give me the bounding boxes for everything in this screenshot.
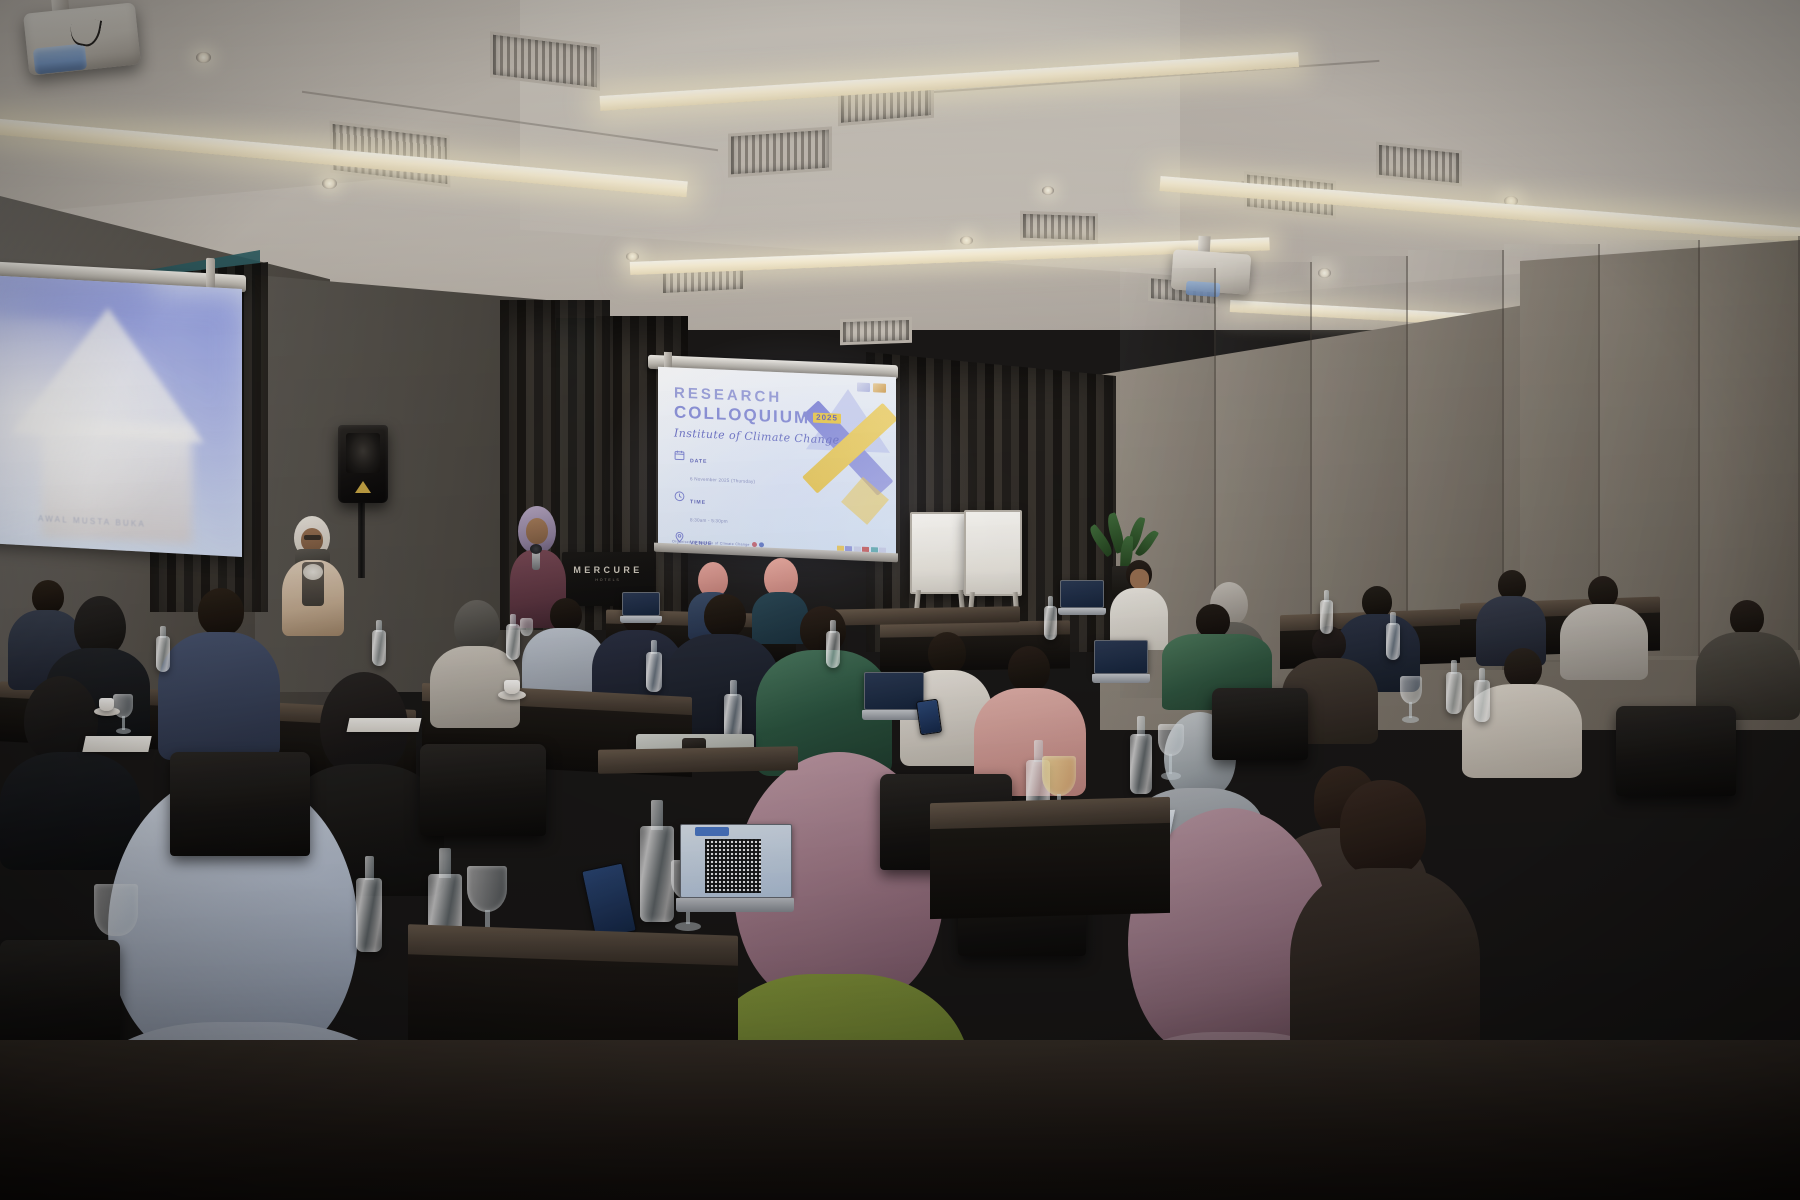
water-bottle: [1474, 668, 1490, 722]
slide-info-value: 8:30am - 5:30pm: [690, 517, 728, 524]
cup: [99, 698, 114, 711]
water-bottle: [156, 626, 170, 672]
glass-foot: [675, 922, 701, 931]
pearl-necklace: [303, 564, 323, 580]
microphone-head-icon: [530, 544, 542, 554]
paper-document: [82, 736, 151, 752]
face: [526, 518, 548, 544]
chair: [170, 752, 310, 856]
slide-info-label: TIME: [690, 499, 706, 506]
water-bottle: [1044, 596, 1057, 640]
bottle-neck: [1137, 716, 1145, 736]
venue-brand-name: MERCURE: [562, 565, 654, 575]
water-bottle: [356, 856, 382, 952]
pa-speaker: [338, 425, 388, 503]
water-bottle: [506, 614, 520, 660]
headscarf: [764, 558, 798, 596]
laptop: [1092, 640, 1150, 684]
cup: [504, 680, 520, 694]
laptop: [1058, 580, 1106, 616]
laptop: [620, 592, 662, 624]
slide-info-value: Mercure Hotel, Kuala Lumpur: [690, 558, 755, 559]
laptop-screen: [864, 672, 924, 710]
laptop-base: [1092, 674, 1150, 683]
bottle-body: [356, 878, 382, 952]
slide-subtitle: Institute of Climate Change: [674, 426, 884, 448]
bottle-body: [1130, 734, 1152, 794]
chair: [420, 744, 546, 836]
table: [598, 746, 798, 773]
slide-content: RESEARCH COLLOQUIUM2025 Institute of Cli…: [658, 367, 896, 559]
glass-bowl: [1158, 724, 1184, 756]
glass-bowl: [1400, 676, 1422, 704]
water-bottle: [646, 640, 662, 692]
projection-screen-main: RESEARCH COLLOQUIUM2025 Institute of Cli…: [658, 367, 896, 559]
hair: [704, 594, 746, 638]
laptop-base: [676, 898, 794, 912]
bottle-neck: [365, 856, 374, 880]
hair: [1730, 600, 1764, 636]
smartphone: [581, 862, 637, 939]
laptop-screen: [622, 592, 660, 616]
ceiling-vent: [840, 317, 912, 346]
laptop-screen: [1094, 640, 1148, 674]
audience-member: [1696, 600, 1800, 720]
hair: [1196, 604, 1230, 638]
floor: [0, 1040, 1800, 1200]
wine-glass: [1156, 724, 1186, 784]
chair: [1616, 706, 1736, 796]
water-bottle: [372, 620, 386, 666]
suit: [158, 632, 280, 760]
slide-title-line2-text: COLLOQUIUM: [674, 403, 810, 428]
bottle-body: [372, 630, 386, 666]
projection-screen-left: AWAL MUSTA BUKA: [0, 275, 242, 557]
water-bottle: [724, 680, 742, 742]
slide-info-row-time: TIME 8:30am - 5:30pm: [674, 489, 884, 534]
table-skirt: [930, 823, 1170, 919]
bottle-body: [826, 631, 840, 668]
water-bottle: [1386, 612, 1400, 660]
smartphone: [916, 699, 943, 736]
bottle-body: [646, 652, 662, 692]
laptop: [676, 824, 794, 916]
bottle-body: [156, 636, 170, 672]
hair: [1340, 780, 1426, 876]
slide-year-badge: 2025: [813, 413, 841, 425]
slide-info-row-date: DATE 6 November 2025 (Thursday): [674, 448, 884, 493]
bottle-body: [1386, 623, 1400, 660]
audience-member: [158, 588, 280, 756]
bottle-body: [1320, 600, 1333, 634]
glass-stem: [1169, 754, 1172, 774]
glass-foot: [1402, 716, 1419, 723]
drinking-glass: [94, 884, 138, 936]
headscarf: [698, 562, 728, 596]
glass-bowl: [1042, 756, 1076, 796]
speaker-brand-icon: [355, 481, 371, 493]
eyeglasses-icon: [304, 535, 321, 540]
hair: [1008, 646, 1050, 692]
screen-bracket-left: [206, 258, 215, 288]
conference-room-photo: AWAL MUSTA BUKA RESEARCH COLLOQUIUM2025 …: [0, 0, 1800, 1200]
paper-document: [347, 718, 422, 732]
laptop-screen: [680, 824, 792, 898]
water-bottle: [1130, 716, 1152, 794]
chair: [1212, 688, 1308, 760]
bottle-body: [506, 624, 520, 660]
laptop-screen: [1060, 580, 1104, 608]
laptop: [862, 672, 926, 722]
coffee-cup: [498, 678, 526, 700]
slide-info-label: DATE: [690, 458, 707, 465]
audience-member: [1110, 560, 1168, 650]
flipchart-paper: [964, 510, 1022, 596]
qr-code: [705, 839, 761, 893]
hair: [198, 588, 244, 636]
headscarf: [454, 600, 500, 650]
hair: [550, 598, 582, 632]
speaker-stand-pole: [358, 500, 365, 578]
calendar-icon: [674, 449, 685, 460]
bottle-body: [1446, 672, 1462, 714]
screen-header-bar: [695, 827, 729, 836]
face: [1130, 569, 1149, 589]
hair: [928, 632, 966, 674]
flipchart-paper: [910, 512, 968, 594]
drinking-glass: [520, 618, 533, 636]
headscarf: [74, 596, 126, 654]
water-bottle: [1320, 590, 1333, 634]
laptop-base: [620, 616, 662, 623]
laptop-base: [1058, 608, 1106, 615]
presenter-standing-left: [278, 516, 348, 636]
glass-foot: [1161, 772, 1181, 780]
audience-member: [1290, 780, 1480, 1080]
water-bottle: [1446, 660, 1462, 714]
coffee-cup: [94, 696, 120, 716]
wine-glass: [1398, 676, 1424, 726]
slide-info-value: 6 November 2025 (Thursday): [690, 476, 755, 484]
bottle-body: [1044, 606, 1057, 640]
venue-brand-sub: HOTELS: [562, 578, 654, 582]
glass-foot: [116, 728, 131, 734]
hair: [1504, 648, 1542, 688]
clock-icon: [674, 490, 685, 501]
wall-panel: [1700, 236, 1800, 650]
water-bottle: [826, 620, 840, 668]
speaker-driver-icon: [346, 433, 380, 473]
bottle-body: [1474, 680, 1490, 722]
glass-bowl: [467, 866, 507, 912]
